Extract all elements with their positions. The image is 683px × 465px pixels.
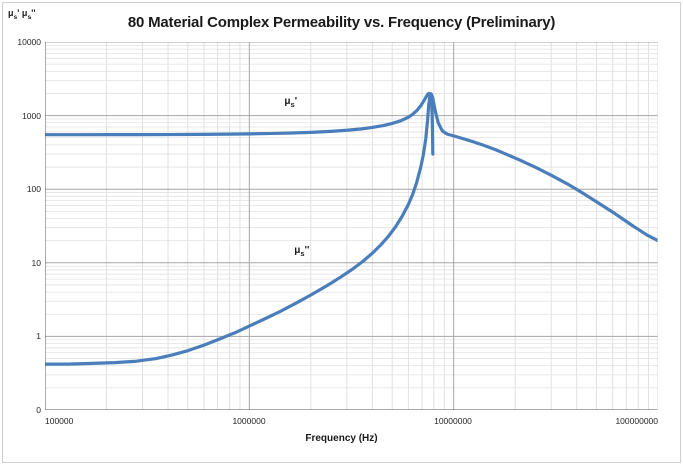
y-tick-label: 1000 — [1, 111, 41, 121]
plot-svg — [45, 42, 658, 410]
chart-title: 80 Material Complex Permeability vs. Fre… — [0, 14, 683, 31]
major-gridlines — [45, 42, 658, 410]
data-series-group — [45, 93, 658, 364]
y-tick-label: 100 — [1, 184, 41, 194]
y-axis-tick-labels: 10000 1000 100 10 1 0 — [0, 0, 41, 465]
y-tick-label: 10 — [1, 258, 41, 268]
plot-area — [45, 42, 658, 410]
minor-gridlines — [45, 42, 658, 410]
axis-lines — [45, 42, 658, 410]
y-tick-label: 10000 — [1, 37, 41, 47]
x-tick-label: 1000000 — [232, 416, 265, 426]
series-label-mu-s-prime: μs' — [284, 96, 297, 109]
series-label-mu-s-double-prime: μs'' — [294, 245, 309, 258]
y-tick-label: 0 — [1, 405, 41, 415]
x-tick-label: 100000000 — [615, 416, 658, 426]
chart-screenshot: μs' μs'' 80 Material Complex Permeabilit… — [0, 0, 683, 465]
x-tick-label: 10000000 — [434, 416, 472, 426]
y-tick-label: 1 — [1, 331, 41, 341]
x-tick-label: 100000 — [45, 416, 73, 426]
x-axis-title: Frequency (Hz) — [0, 433, 683, 444]
